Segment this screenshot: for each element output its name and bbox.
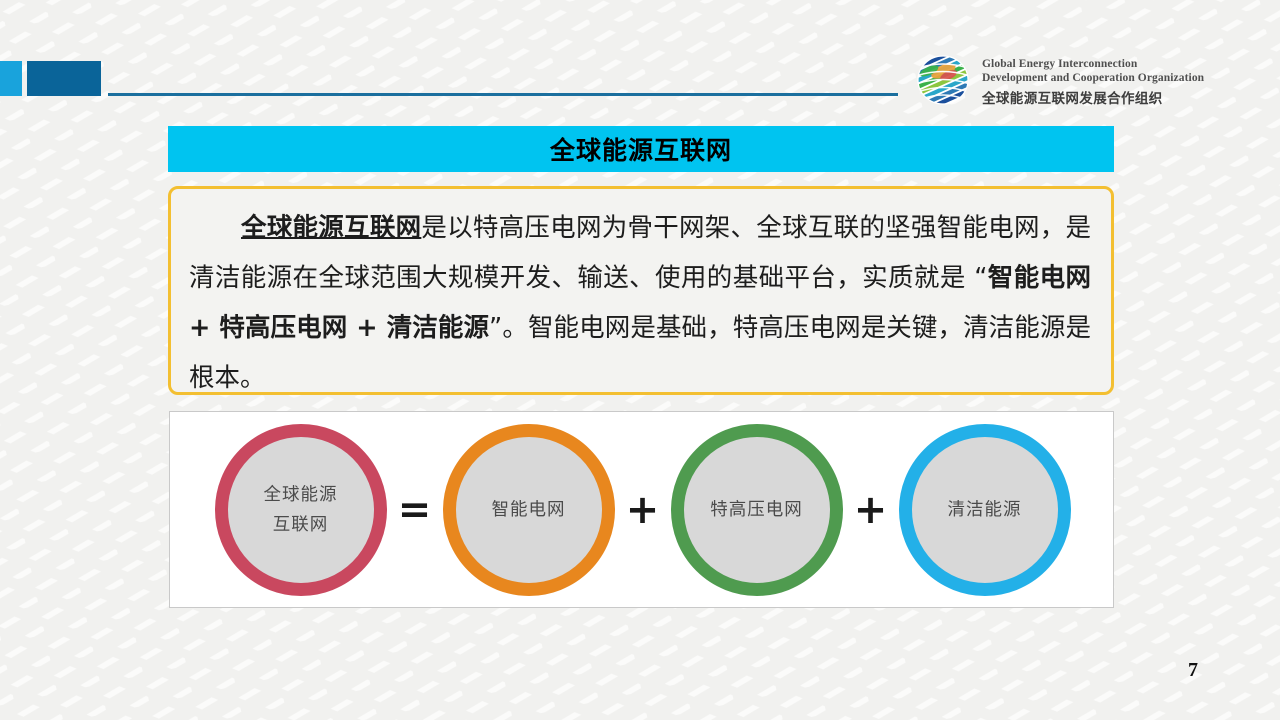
definition-segment: + (347, 313, 386, 343)
page-title: 全球能源互联网 (550, 131, 732, 167)
equation-diagram-row: 全球能源互联网=智能电网+特高压电网+清洁能源 (170, 412, 1115, 607)
slide-title-banner: 全球能源互联网 (168, 126, 1114, 172)
header-divider-rule (108, 93, 898, 96)
page-number: 7 (1188, 659, 1198, 682)
header-accent-block-dark (27, 61, 101, 96)
globe-logo-icon (914, 54, 972, 106)
org-name-cn: 全球能源互联网发展合作组织 (982, 87, 1230, 107)
circle-label-global-energy-interconnection: 全球能源互联网 (264, 480, 338, 540)
org-name-en-line1: Global Energy Interconnection (982, 58, 1230, 72)
definition-segment: “ (974, 263, 987, 293)
definition-textbox: 全球能源互联网是以特高压电网为骨干网架、全球互联的坚强智能电网，是清洁能源在全球… (168, 186, 1114, 395)
circle-label-uhv-grid: 特高压电网 (710, 495, 803, 525)
operator-symbol-plus: + (843, 490, 899, 530)
definition-segment: 智能电网 (987, 263, 1091, 293)
circle-label-clean-energy: 清洁能源 (948, 495, 1022, 525)
header-accent-block-light (0, 61, 22, 96)
circle-node-smart-grid: 智能电网 (443, 424, 615, 596)
circle-node-clean-energy: 清洁能源 (899, 424, 1071, 596)
slide-canvas: Global Energy Interconnection Developmen… (0, 0, 1280, 720)
definition-segment: + (189, 313, 219, 343)
equation-diagram-panel: 全球能源互联网=智能电网+特高压电网+清洁能源 (169, 411, 1114, 608)
definition-paragraph: 全球能源互联网是以特高压电网为骨干网架、全球互联的坚强智能电网，是清洁能源在全球… (189, 203, 1091, 403)
org-name-en-line2: Development and Cooperation Organization (982, 72, 1230, 86)
circle-label-smart-grid: 智能电网 (492, 495, 566, 525)
definition-segment: 清洁能源 (387, 313, 489, 343)
circle-node-global-energy-interconnection: 全球能源互联网 (215, 424, 387, 596)
definition-segment: 特高压电网 (219, 313, 347, 343)
definition-segment: ” (489, 313, 502, 343)
definition-segment: 全球能源互联网 (241, 213, 421, 243)
organization-name-block: Global Energy Interconnection Developmen… (982, 58, 1230, 107)
operator-symbol-equals: = (387, 490, 443, 530)
circle-node-uhv-grid: 特高压电网 (671, 424, 843, 596)
operator-symbol-plus: + (615, 490, 671, 530)
